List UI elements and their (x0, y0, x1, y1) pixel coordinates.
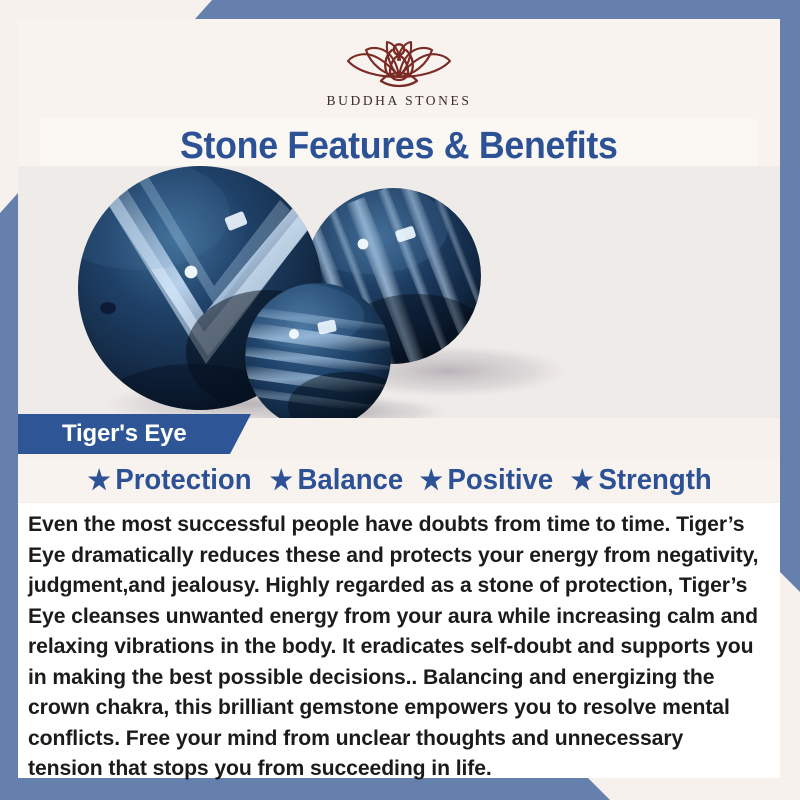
benefit-label: Balance (297, 464, 403, 497)
star-icon: ★ (269, 467, 292, 494)
brand-name: BUDDHA STONES (327, 93, 472, 109)
hero-image (18, 166, 780, 418)
benefit-item-2: ★ Positive (420, 464, 563, 497)
stone-description: Even the most successful people have dou… (28, 509, 759, 784)
benefit-label: Protection (115, 464, 251, 497)
star-icon: ★ (88, 467, 111, 494)
benefit-label: Positive (448, 464, 554, 497)
benefit-item-1: ★ Balance (269, 464, 412, 497)
infographic-page: BUDDHA STONES Stone Features & Benefits (0, 0, 800, 800)
page-title: Stone Features & Benefits (180, 125, 618, 168)
star-icon: ★ (570, 467, 593, 494)
benefits-row: ★ Protection ★ Balance ★ Positive ★ Stre… (18, 458, 780, 502)
benefit-item-3: ★ Strength (570, 464, 711, 497)
blue-tigers-eye-spheres-photo (18, 166, 780, 418)
frame-bar-right (780, 19, 800, 592)
frame-bar-left (0, 193, 18, 783)
brand-logo: BUDDHA STONES (18, 27, 780, 109)
title-band: Stone Features & Benefits (40, 119, 758, 173)
benefit-item-0: ★ Protection (88, 464, 261, 497)
star-icon: ★ (420, 467, 443, 494)
description-block: Even the most successful people have dou… (18, 503, 780, 778)
stone-name: Tiger's Eye (62, 420, 186, 448)
header: BUDDHA STONES Stone Features & Benefits (18, 19, 780, 184)
frame-bar-top (195, 0, 800, 19)
benefit-label: Strength (598, 464, 711, 497)
lotus-meditation-icon (331, 27, 467, 91)
stone-name-ribbon: Tiger's Eye (18, 414, 251, 454)
